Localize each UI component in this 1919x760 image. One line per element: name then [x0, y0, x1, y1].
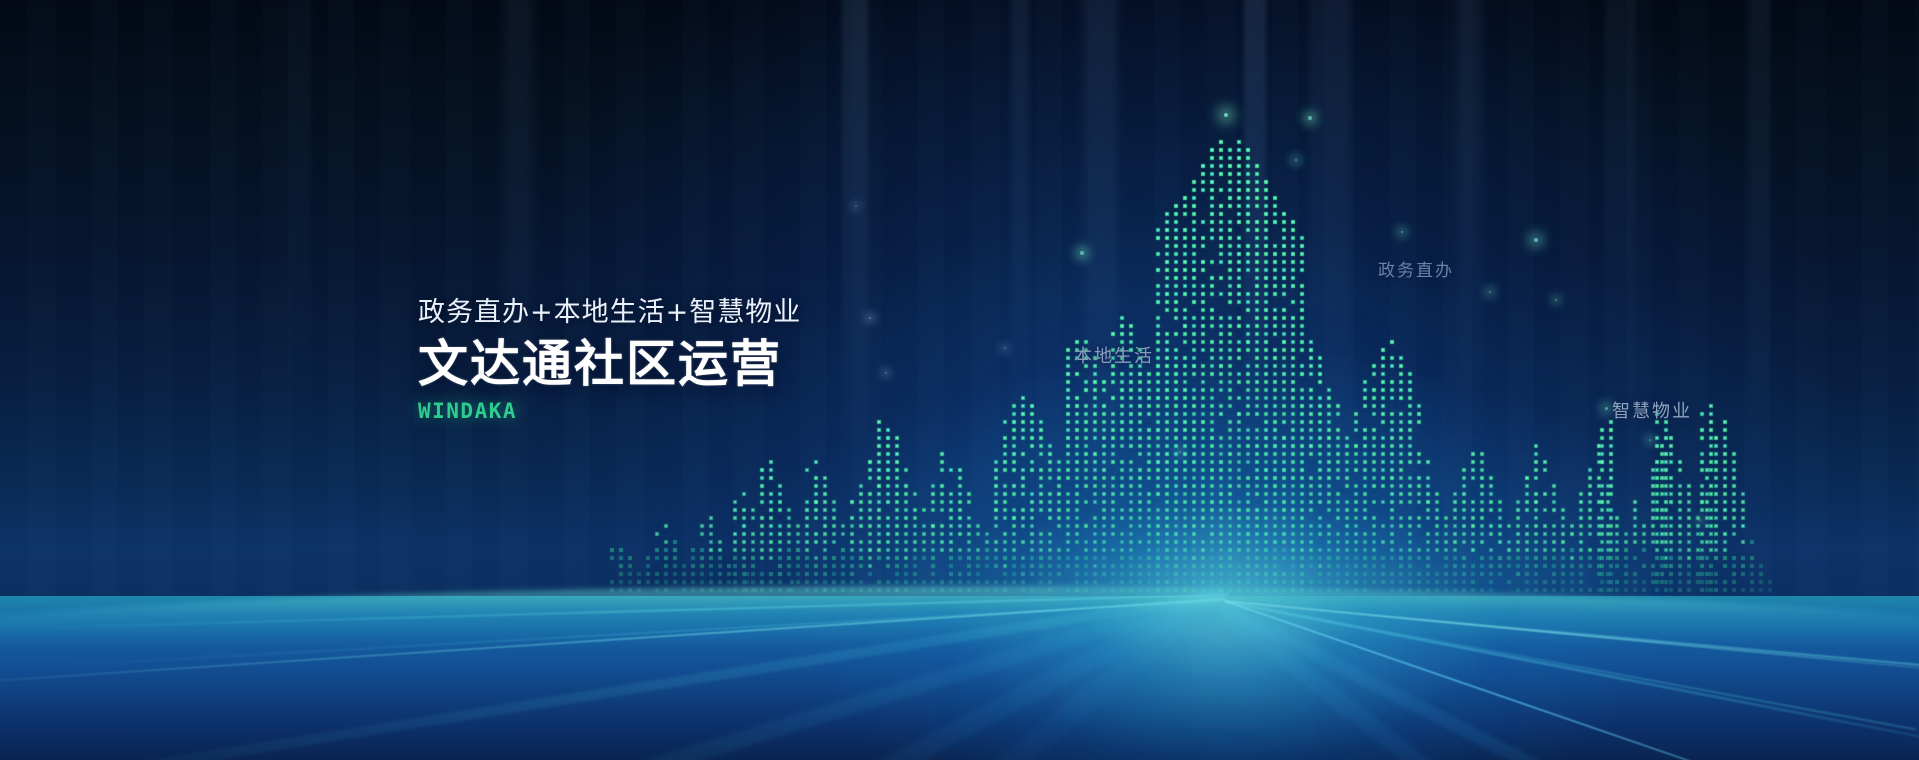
hero-copy-block: 政务直办+本地生活+智慧物业 文达通社区运营 WINDAKA [418, 296, 801, 423]
hero-headline: 文达通社区运营 [418, 336, 801, 394]
hero-subtitle: 政务直办+本地生活+智慧物业 [418, 296, 801, 330]
floating-label-1: 政务直办 [1378, 256, 1454, 281]
brand-wordmark: WINDAKA [418, 399, 801, 423]
floating-label-3: 智慧物业 [1612, 397, 1692, 423]
floating-label-2: 本地生活 [1074, 342, 1154, 368]
hero-banner: 政务直办本地生活智慧物业 政务直办+本地生活+智慧物业 文达通社区运营 WIND… [0, 0, 1919, 760]
